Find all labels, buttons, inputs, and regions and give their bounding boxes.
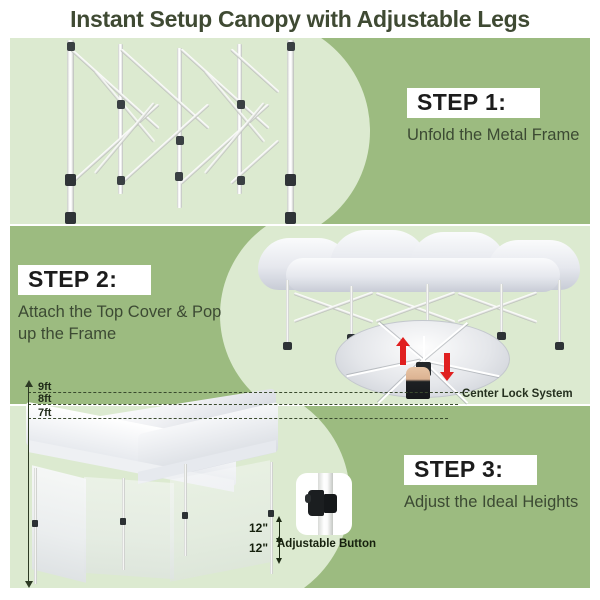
step-3-banner: STEP 3: (404, 455, 537, 485)
page-title-text: Instant Setup Canopy with Adjustable Leg… (70, 6, 530, 33)
height-label-7ft: 7ft (38, 407, 51, 419)
center-lock-magnifier (335, 320, 510, 398)
step-3-text-block: STEP 3: Adjust the Ideal Heights (404, 455, 578, 514)
step-1-banner: STEP 1: (407, 88, 540, 118)
step-1-label: STEP 1: (417, 89, 506, 115)
step-3-description: Adjust the Ideal Heights (404, 492, 578, 514)
adjustable-button-inset (296, 473, 352, 535)
adjustable-button-caption: Adjustable Button (277, 538, 376, 550)
page-title: Instant Setup Canopy with Adjustable Leg… (0, 0, 600, 38)
canopy-setup-infographic: Instant Setup Canopy with Adjustable Leg… (0, 0, 600, 600)
erected-canopy-illustration (18, 398, 293, 588)
height-label-8ft: 8ft (38, 393, 51, 405)
step-2-banner: STEP 2: (18, 265, 151, 295)
lock-arrow-down-icon (444, 353, 450, 373)
inset-button-tab (324, 494, 337, 513)
height-label-9ft: 9ft (38, 381, 51, 393)
step-2-label: STEP 2: (28, 266, 117, 292)
height-guide-8ft (28, 404, 458, 405)
height-guide-9ft (28, 392, 468, 393)
step-2-text-block: STEP 2: Attach the Top Cover & Pop up th… (18, 265, 238, 346)
hand-illustration (406, 367, 430, 399)
height-axis-arrow (28, 386, 29, 582)
step-3-label: STEP 3: (414, 456, 503, 482)
step-1-section: STEP 1: Unfold the Metal Frame (10, 38, 590, 224)
step-1-text-block: STEP 1: Unfold the Metal Frame (407, 88, 579, 147)
height-guide-7ft (28, 418, 448, 419)
increment-label-bottom: 12" (249, 541, 268, 555)
lock-arrow-up-icon (400, 345, 406, 365)
inset-release-lever (305, 494, 311, 503)
step-2-description: Attach the Top Cover & Pop up the Frame (18, 302, 238, 346)
folded-metal-frame-illustration (55, 40, 305, 224)
increment-label-top: 12" (249, 521, 268, 535)
center-lock-caption: Center Lock System (462, 388, 573, 400)
step-1-description: Unfold the Metal Frame (407, 125, 579, 147)
inset-clamp (308, 490, 324, 516)
